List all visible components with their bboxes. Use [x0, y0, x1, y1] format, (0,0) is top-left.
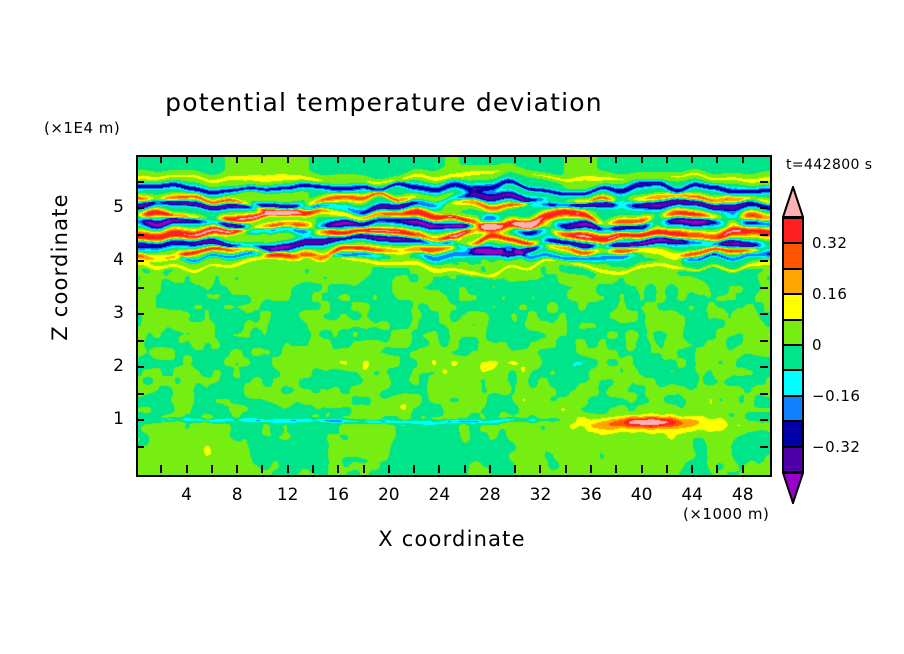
y-tick-label: 2	[84, 356, 124, 376]
x-tick-minor	[691, 465, 693, 473]
x-tick-minor-top	[211, 155, 213, 163]
y-tick-minor-right	[760, 340, 768, 342]
x-tick-minor	[565, 465, 567, 473]
x-tick-minor-top	[312, 155, 314, 163]
colorbar-cap-top	[782, 186, 804, 218]
x-tick-minor	[464, 465, 466, 473]
x-tick-minor	[160, 465, 162, 473]
colorbar-swatch[interactable]	[782, 243, 804, 268]
y-tick-minor	[136, 419, 144, 421]
x-tick-minor	[388, 465, 390, 473]
x-tick-minor	[261, 465, 263, 473]
y-tick-minor	[136, 446, 144, 448]
x-axis-unit-label: (×1000 m)	[683, 505, 769, 523]
plot-area[interactable]	[136, 155, 772, 477]
x-tick-minor	[236, 465, 238, 473]
y-tick-minor-right	[760, 181, 768, 183]
y-tick-minor	[136, 340, 144, 342]
x-tick-minor	[211, 465, 213, 473]
y-tick-minor	[136, 260, 144, 262]
x-tick-minor-top	[413, 155, 415, 163]
x-tick-label: 4	[165, 485, 209, 505]
colorbar-swatch[interactable]	[782, 320, 804, 345]
y-axis-unit-label: (×1E4 m)	[44, 119, 120, 137]
x-tick-label: 48	[721, 485, 765, 505]
x-tick-minor-top	[641, 155, 643, 163]
x-tick-minor-top	[363, 155, 365, 163]
colorbar-swatch[interactable]	[782, 370, 804, 395]
x-tick-minor-top	[615, 155, 617, 163]
y-tick-minor-right	[760, 393, 768, 395]
colorbar-swatch[interactable]	[782, 447, 804, 472]
y-tick-minor	[136, 287, 144, 289]
colorbar-swatch[interactable]	[782, 294, 804, 319]
x-tick-minor-top	[539, 155, 541, 163]
colorbar-tick-label: 0.32	[812, 234, 847, 252]
y-tick-minor	[136, 181, 144, 183]
x-tick-label: 20	[367, 485, 411, 505]
x-tick-minor	[312, 465, 314, 473]
x-tick-minor	[615, 465, 617, 473]
x-tick-minor-top	[337, 155, 339, 163]
x-tick-minor	[590, 465, 592, 473]
y-tick-label: 1	[84, 409, 124, 429]
y-tick-minor	[136, 313, 144, 315]
y-tick-minor-right	[760, 287, 768, 289]
contour-field-canvas[interactable]	[138, 157, 770, 475]
x-tick-label: 16	[316, 485, 360, 505]
y-tick-minor-right	[760, 207, 768, 209]
x-tick-minor	[287, 465, 289, 473]
colorbar-swatch[interactable]	[782, 396, 804, 421]
y-tick-minor-right	[760, 313, 768, 315]
y-tick-minor	[136, 207, 144, 209]
x-tick-minor-top	[261, 155, 263, 163]
colorbar-tick-label: 0	[812, 336, 822, 354]
x-tick-minor-top	[236, 155, 238, 163]
x-tick-minor	[742, 465, 744, 473]
x-axis-title: X coordinate	[136, 527, 768, 551]
page-title: potential temperature deviation	[0, 88, 768, 117]
y-tick-minor-right	[760, 419, 768, 421]
contour-figure: potential temperature deviation (×1E4 m)…	[0, 0, 904, 654]
x-tick-label: 32	[518, 485, 562, 505]
x-tick-minor-top	[666, 155, 668, 163]
x-tick-minor	[539, 465, 541, 473]
x-tick-label: 8	[215, 485, 259, 505]
x-tick-minor	[186, 465, 188, 473]
colorbar-swatch[interactable]	[782, 421, 804, 446]
y-tick-minor-right	[760, 446, 768, 448]
y-tick-label: 5	[84, 197, 124, 217]
x-tick-minor	[363, 465, 365, 473]
x-tick-minor-top	[388, 155, 390, 163]
colorbar-tick-label: −0.16	[812, 387, 860, 405]
x-tick-minor-top	[590, 155, 592, 163]
y-tick-minor-right	[760, 366, 768, 368]
y-tick-minor-right	[760, 234, 768, 236]
x-tick-minor-top	[514, 155, 516, 163]
y-tick-label: 3	[84, 303, 124, 323]
x-tick-minor-top	[716, 155, 718, 163]
x-tick-minor-top	[489, 155, 491, 163]
y-tick-label: 4	[84, 250, 124, 270]
x-tick-minor-top	[742, 155, 744, 163]
x-tick-minor	[514, 465, 516, 473]
x-tick-minor	[716, 465, 718, 473]
x-tick-minor-top	[438, 155, 440, 163]
y-tick-minor	[136, 366, 144, 368]
y-axis-title: Z coordinate	[48, 177, 72, 357]
x-tick-minor-top	[464, 155, 466, 163]
x-tick-label: 12	[266, 485, 310, 505]
x-tick-minor	[489, 465, 491, 473]
colorbar-swatch[interactable]	[782, 269, 804, 294]
x-tick-label: 24	[417, 485, 461, 505]
colorbar-tick-label: 0.16	[812, 285, 847, 303]
x-tick-minor	[666, 465, 668, 473]
colorbar-cap-bottom	[782, 472, 804, 504]
x-tick-label: 40	[620, 485, 664, 505]
x-tick-label: 36	[569, 485, 613, 505]
x-tick-minor	[438, 465, 440, 473]
x-tick-minor-top	[691, 155, 693, 163]
x-tick-minor-top	[160, 155, 162, 163]
time-annotation: t=442800 s	[786, 157, 872, 173]
x-tick-minor-top	[287, 155, 289, 163]
y-tick-minor-right	[760, 260, 768, 262]
y-tick-minor	[136, 393, 144, 395]
x-tick-minor-top	[186, 155, 188, 163]
x-tick-minor	[641, 465, 643, 473]
x-tick-label: 28	[468, 485, 512, 505]
y-tick-minor	[136, 234, 144, 236]
x-tick-minor-top	[565, 155, 567, 163]
colorbar-swatch[interactable]	[782, 218, 804, 243]
colorbar[interactable]	[782, 186, 804, 504]
colorbar-swatch[interactable]	[782, 345, 804, 370]
colorbar-tick-label: −0.32	[812, 438, 860, 456]
x-tick-minor	[413, 465, 415, 473]
x-tick-label: 44	[670, 485, 714, 505]
x-tick-minor	[337, 465, 339, 473]
